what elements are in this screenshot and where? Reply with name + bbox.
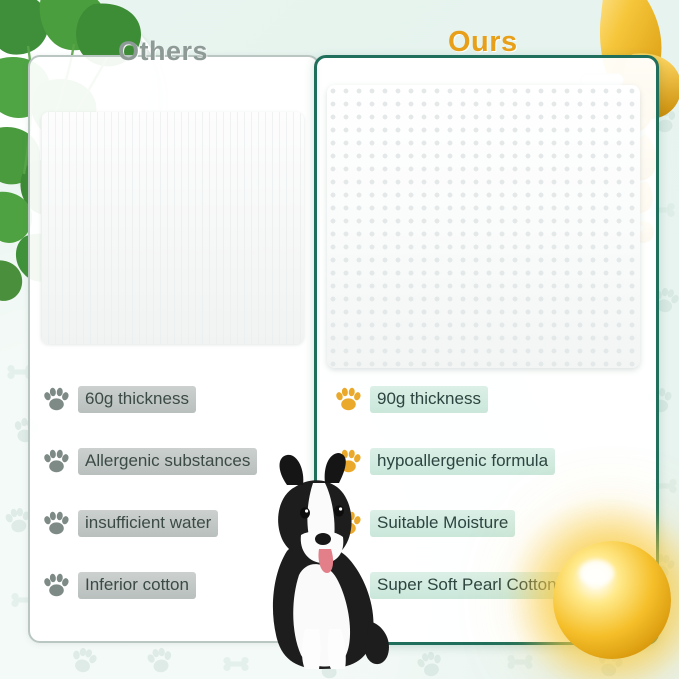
- feature-label: hypoallergenic formula: [370, 448, 555, 475]
- panel-others-title: Others: [118, 36, 208, 67]
- paw-icon: [336, 449, 361, 473]
- feature-label: insufficient water: [78, 510, 218, 537]
- features-list-others: 60g thickness Allergenic substances: [44, 382, 306, 602]
- feature-item: hypoallergenic formula: [336, 444, 636, 478]
- paw-icon: [44, 511, 69, 535]
- feature-label: Suitable Moisture: [370, 510, 515, 537]
- cotton-pad-others-image: [41, 112, 304, 344]
- paw-icon: [44, 449, 69, 473]
- feature-item: 90g thickness: [336, 382, 636, 416]
- feature-label: Super Soft Pearl Cotton: [370, 572, 564, 599]
- paw-icon: [336, 573, 361, 597]
- paw-icon: [44, 573, 69, 597]
- paw-icon: [336, 387, 361, 411]
- feature-label: 60g thickness: [78, 386, 196, 413]
- product-comparison-graphic: Others 60g thickness: [0, 0, 679, 679]
- feature-label: 90g thickness: [370, 386, 488, 413]
- feature-item: Suitable Moisture: [336, 506, 636, 540]
- feature-item: insufficient water: [44, 506, 306, 540]
- feature-item: 60g thickness: [44, 382, 306, 416]
- golden-oil-bubble-image: [553, 541, 671, 659]
- paw-icon: [336, 511, 361, 535]
- feature-label: Inferior cotton: [78, 572, 196, 599]
- paw-icon: [44, 387, 69, 411]
- feature-item: Inferior cotton: [44, 568, 306, 602]
- cotton-pad-ours-image: [327, 85, 640, 368]
- feature-label: Allergenic substances: [78, 448, 257, 475]
- feature-item: Allergenic substances: [44, 444, 306, 478]
- panel-ours-title: Ours: [448, 26, 518, 59]
